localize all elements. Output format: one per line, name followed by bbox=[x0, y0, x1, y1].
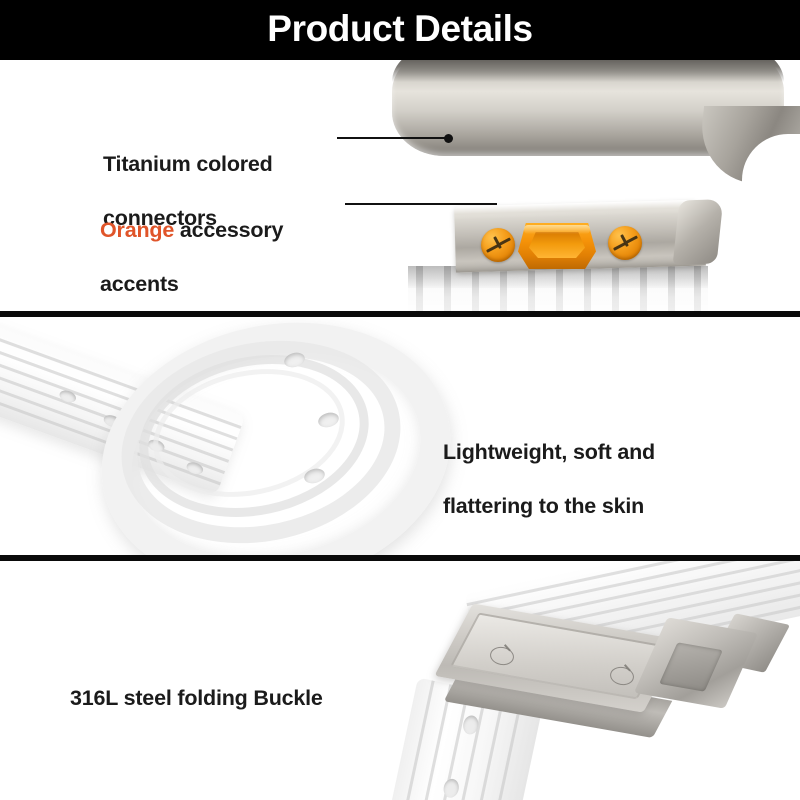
orange-screw-icon bbox=[608, 226, 642, 260]
section-divider bbox=[0, 555, 800, 561]
annotation-line-1-rest: accessory bbox=[174, 218, 283, 242]
annotation-accent-word: Orange bbox=[100, 218, 174, 242]
page-title: Product Details bbox=[0, 0, 800, 60]
leader-line-orange bbox=[345, 203, 497, 205]
orange-accent-button-highlight bbox=[524, 225, 590, 234]
orange-accent-button-inner bbox=[529, 232, 585, 258]
annotation-line-1: Titanium colored bbox=[103, 152, 273, 176]
orange-screw-icon bbox=[481, 228, 515, 262]
header-bar: Product Details bbox=[0, 0, 800, 60]
annotation-steel-buckle: 316L steel folding Buckle bbox=[70, 658, 430, 712]
leader-line-titanium bbox=[337, 137, 449, 139]
annotation-orange-accents: Orange accessory accents bbox=[100, 190, 360, 298]
annotation-lightweight-soft: Lightweight, soft and flattering to the … bbox=[443, 412, 743, 520]
leader-dot bbox=[444, 134, 453, 143]
watch-case-top-shadow bbox=[392, 60, 784, 82]
annotation-line-1: Lightweight, soft and bbox=[443, 440, 655, 464]
annotation-line-1: 316L steel folding Buckle bbox=[70, 686, 323, 710]
product-details-page: Product Details bbox=[0, 0, 800, 800]
annotation-line-2: flattering to the skin bbox=[443, 494, 644, 518]
connector-end-cap bbox=[673, 199, 724, 265]
annotation-line-2: accents bbox=[100, 272, 179, 296]
section-divider bbox=[0, 311, 800, 317]
